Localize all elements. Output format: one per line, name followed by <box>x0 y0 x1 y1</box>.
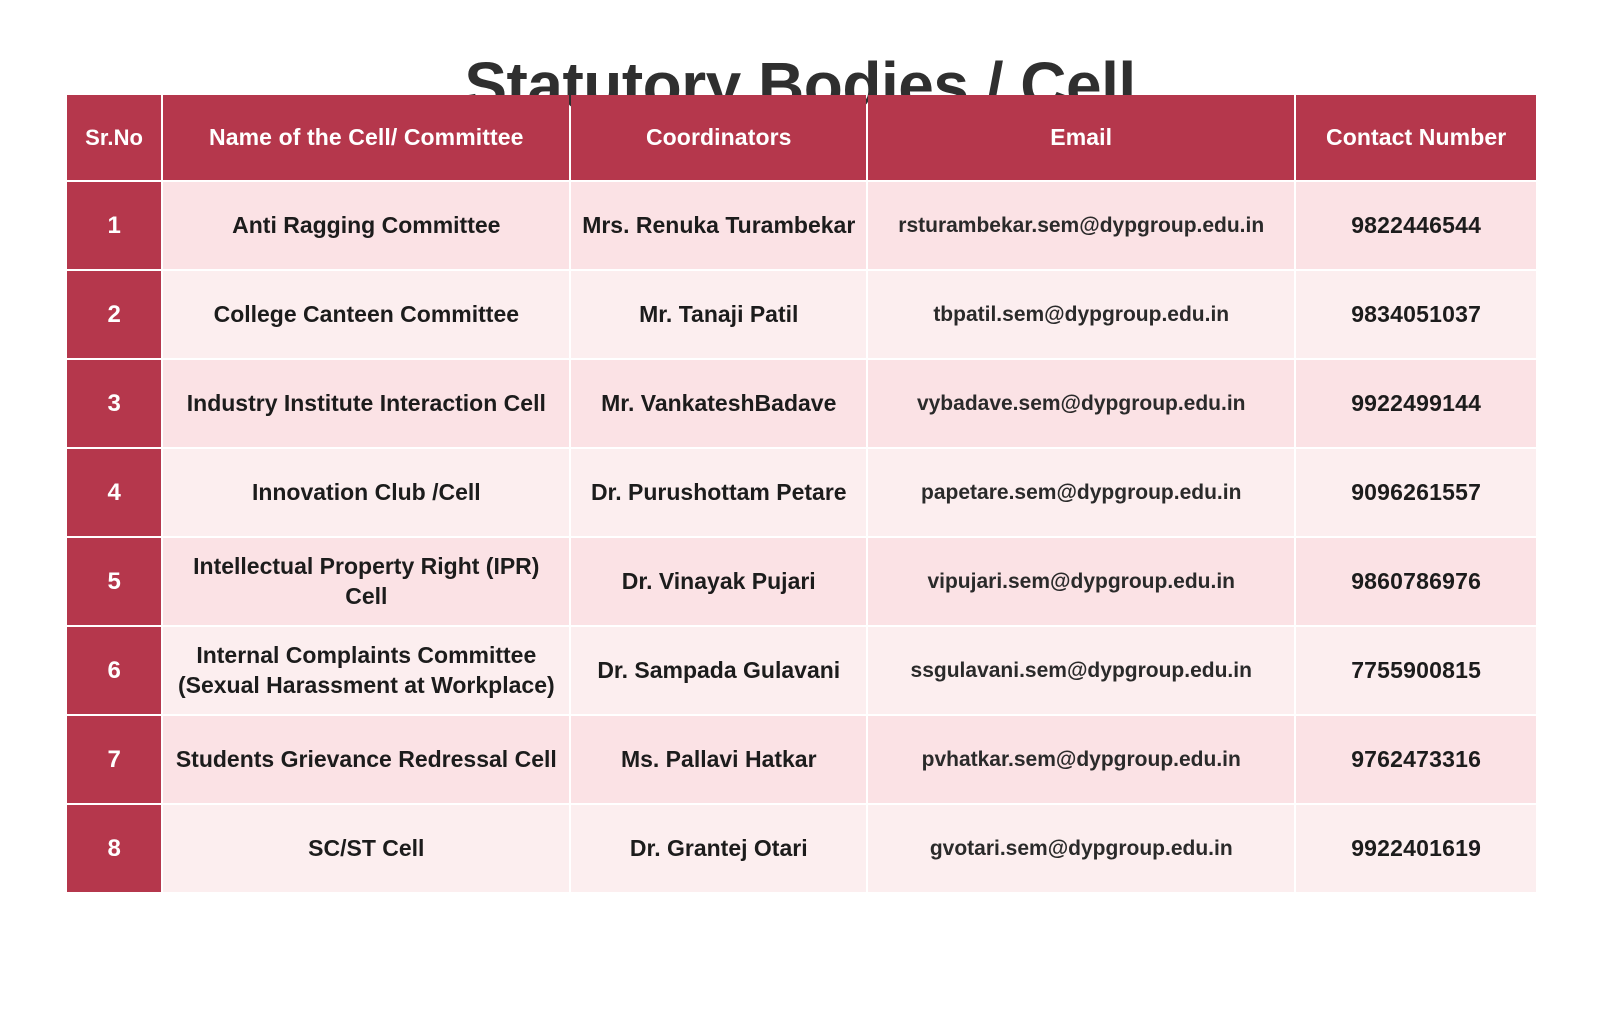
cell-contact-number[interactable]: 9096261557 <box>1296 449 1536 536</box>
cell-sr-no: 5 <box>67 538 161 625</box>
cell-contact-number[interactable]: 9860786976 <box>1296 538 1536 625</box>
cell-email[interactable]: gvotari.sem@dypgroup.edu.in <box>868 805 1294 892</box>
cell-coordinator: Dr. Grantej Otari <box>571 805 866 892</box>
committee-name-line-2: (Sexual Harassment at Workplace) <box>173 671 559 700</box>
cell-contact-number[interactable]: 9822446544 <box>1296 182 1536 269</box>
cell-sr-no: 2 <box>67 271 161 358</box>
table-header: Sr.No Name of the Cell/ Committee Coordi… <box>67 95 1536 180</box>
cell-committee-name: Innovation Club /Cell <box>163 449 569 536</box>
cell-sr-no: 1 <box>67 182 161 269</box>
column-header-coordinators: Coordinators <box>571 95 866 180</box>
cell-email[interactable]: papetare.sem@dypgroup.edu.in <box>868 449 1294 536</box>
committee-name-line-1: Industry Institute Interaction Cell <box>173 389 559 418</box>
table-body: 1Anti Ragging CommitteeMrs. Renuka Turam… <box>67 182 1536 892</box>
cell-email[interactable]: pvhatkar.sem@dypgroup.edu.in <box>868 716 1294 803</box>
cell-email[interactable]: tbpatil.sem@dypgroup.edu.in <box>868 271 1294 358</box>
cell-committee-name: Intellectual Property Right (IPR) Cell <box>163 538 569 625</box>
table-row: 7Students Grievance Redressal CellMs. Pa… <box>67 716 1536 803</box>
table-row: 8SC/ST CellDr. Grantej Otarigvotari.sem@… <box>67 805 1536 892</box>
cell-committee-name: Students Grievance Redressal Cell <box>163 716 569 803</box>
cell-sr-no: 4 <box>67 449 161 536</box>
cell-sr-no: 8 <box>67 805 161 892</box>
cell-coordinator: Mrs. Renuka Turambekar <box>571 182 866 269</box>
cell-coordinator: Dr. Purushottam Petare <box>571 449 866 536</box>
cell-sr-no: 6 <box>67 627 161 714</box>
cell-contact-number[interactable]: 9834051037 <box>1296 271 1536 358</box>
cell-sr-no: 3 <box>67 360 161 447</box>
table-row: 6Internal Complaints Committee(Sexual Ha… <box>67 627 1536 714</box>
committee-name-line-1: Intellectual Property Right (IPR) Cell <box>173 552 559 611</box>
committee-name-line-1: Internal Complaints Committee <box>173 641 559 670</box>
cell-coordinator: Dr. Vinayak Pujari <box>571 538 866 625</box>
cell-email[interactable]: vybadave.sem@dypgroup.edu.in <box>868 360 1294 447</box>
statutory-bodies-table-wrapper: Sr.No Name of the Cell/ Committee Coordi… <box>65 93 1538 894</box>
table-header-row: Sr.No Name of the Cell/ Committee Coordi… <box>67 95 1536 180</box>
cell-email[interactable]: vipujari.sem@dypgroup.edu.in <box>868 538 1294 625</box>
statutory-bodies-table: Sr.No Name of the Cell/ Committee Coordi… <box>65 93 1538 894</box>
cell-email[interactable]: rsturambekar.sem@dypgroup.edu.in <box>868 182 1294 269</box>
column-header-name-of-cell: Name of the Cell/ Committee <box>163 95 569 180</box>
cell-committee-name: SC/ST Cell <box>163 805 569 892</box>
cell-committee-name: Industry Institute Interaction Cell <box>163 360 569 447</box>
cell-coordinator: Mr. VankateshBadave <box>571 360 866 447</box>
committee-name-line-1: SC/ST Cell <box>173 834 559 863</box>
table-row: 5Intellectual Property Right (IPR) CellD… <box>67 538 1536 625</box>
cell-coordinator: Mr. Tanaji Patil <box>571 271 866 358</box>
cell-contact-number[interactable]: 9762473316 <box>1296 716 1536 803</box>
cell-committee-name: College Canteen Committee <box>163 271 569 358</box>
column-header-email: Email <box>868 95 1294 180</box>
cell-contact-number[interactable]: 9922401619 <box>1296 805 1536 892</box>
committee-name-line-1: Students Grievance Redressal Cell <box>173 745 559 774</box>
page-root: Statutory Bodies / Cell Sr.No Name of th… <box>0 0 1600 1027</box>
table-row: 4Innovation Club /CellDr. Purushottam Pe… <box>67 449 1536 536</box>
cell-coordinator: Ms. Pallavi Hatkar <box>571 716 866 803</box>
column-header-contact-number: Contact Number <box>1296 95 1536 180</box>
table-row: 1Anti Ragging CommitteeMrs. Renuka Turam… <box>67 182 1536 269</box>
cell-committee-name: Internal Complaints Committee(Sexual Har… <box>163 627 569 714</box>
committee-name-line-1: College Canteen Committee <box>173 300 559 329</box>
committee-name-line-1: Innovation Club /Cell <box>173 478 559 507</box>
cell-contact-number[interactable]: 7755900815 <box>1296 627 1536 714</box>
cell-email[interactable]: ssgulavani.sem@dypgroup.edu.in <box>868 627 1294 714</box>
table-row: 2College Canteen CommitteeMr. Tanaji Pat… <box>67 271 1536 358</box>
cell-committee-name: Anti Ragging Committee <box>163 182 569 269</box>
cell-contact-number[interactable]: 9922499144 <box>1296 360 1536 447</box>
cell-coordinator: Dr. Sampada Gulavani <box>571 627 866 714</box>
table-row: 3Industry Institute Interaction CellMr. … <box>67 360 1536 447</box>
column-header-sr-no: Sr.No <box>67 95 161 180</box>
cell-sr-no: 7 <box>67 716 161 803</box>
committee-name-line-1: Anti Ragging Committee <box>173 211 559 240</box>
